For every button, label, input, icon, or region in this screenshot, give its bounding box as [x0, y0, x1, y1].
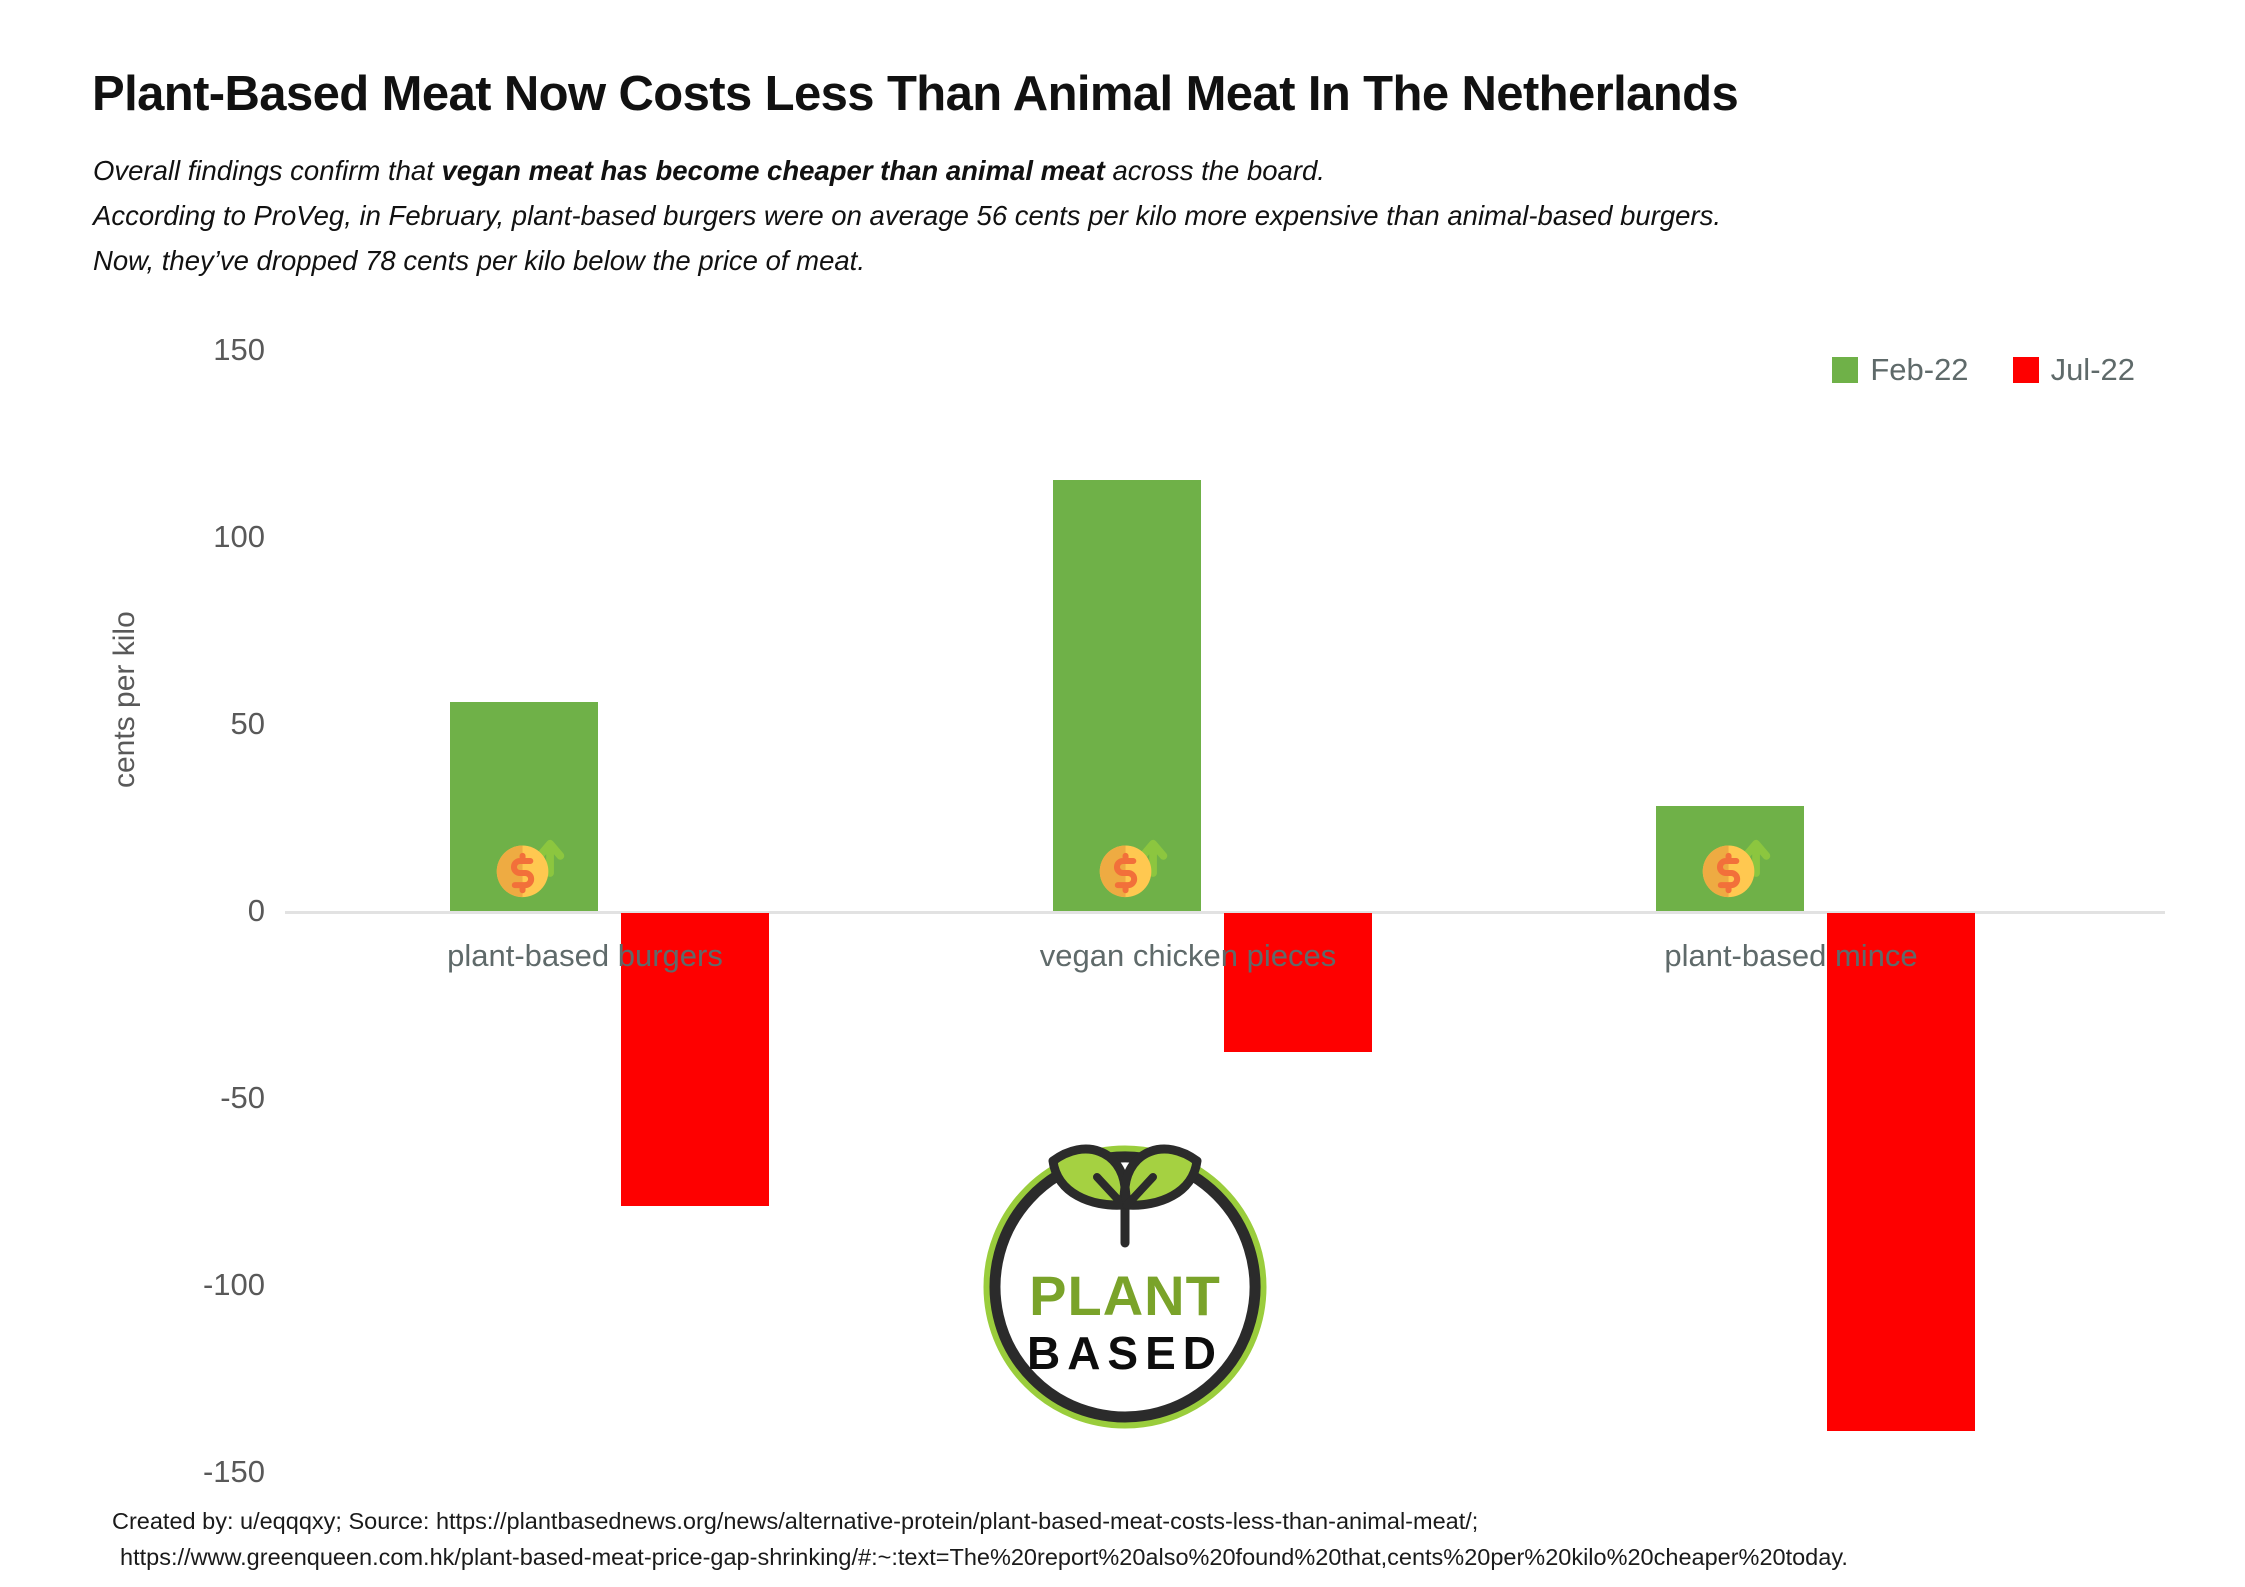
y-tick-neg150: -150: [145, 1454, 265, 1490]
plant-based-logo: PLANT BASED: [965, 1115, 1285, 1435]
chart-page: Plant-Based Meat Now Costs Less Than Ani…: [0, 0, 2245, 1587]
x-axis-label-plant-based-mince: plant-based mince: [1576, 938, 2006, 974]
footer: Created by: u/eqqqxy; Source: https://pl…: [112, 1503, 1848, 1575]
footer-source-line-1: Created by: u/eqqqxy; Source: https://pl…: [112, 1503, 1848, 1539]
y-tick-neg100: -100: [145, 1267, 265, 1303]
y-tick-50: 50: [145, 706, 265, 742]
coin-up-icon-1: [483, 818, 569, 904]
logo-text-plant: PLANT: [1029, 1264, 1221, 1327]
x-axis-label-vegan-chicken-pieces: vegan chicken pieces: [973, 938, 1403, 974]
coin-up-icon-2: [1086, 818, 1172, 904]
coin-up-icon-3: [1689, 818, 1775, 904]
y-tick-100: 100: [145, 519, 265, 555]
logo-text-based: BASED: [1027, 1327, 1223, 1379]
y-tick-150: 150: [145, 332, 265, 368]
x-axis-label-plant-based-burgers: plant-based burgers: [370, 938, 800, 974]
bar-jul22-plant-based-mince[interactable]: [1827, 913, 1975, 1431]
footer-source-line-2: https://www.greenqueen.com.hk/plant-base…: [112, 1539, 1848, 1575]
y-axis-title: cents per kilo: [108, 611, 142, 788]
y-tick-0: 0: [145, 893, 265, 929]
y-tick-neg50: -50: [145, 1080, 265, 1116]
bar-jul22-vegan-chicken-pieces[interactable]: [1224, 913, 1372, 1052]
